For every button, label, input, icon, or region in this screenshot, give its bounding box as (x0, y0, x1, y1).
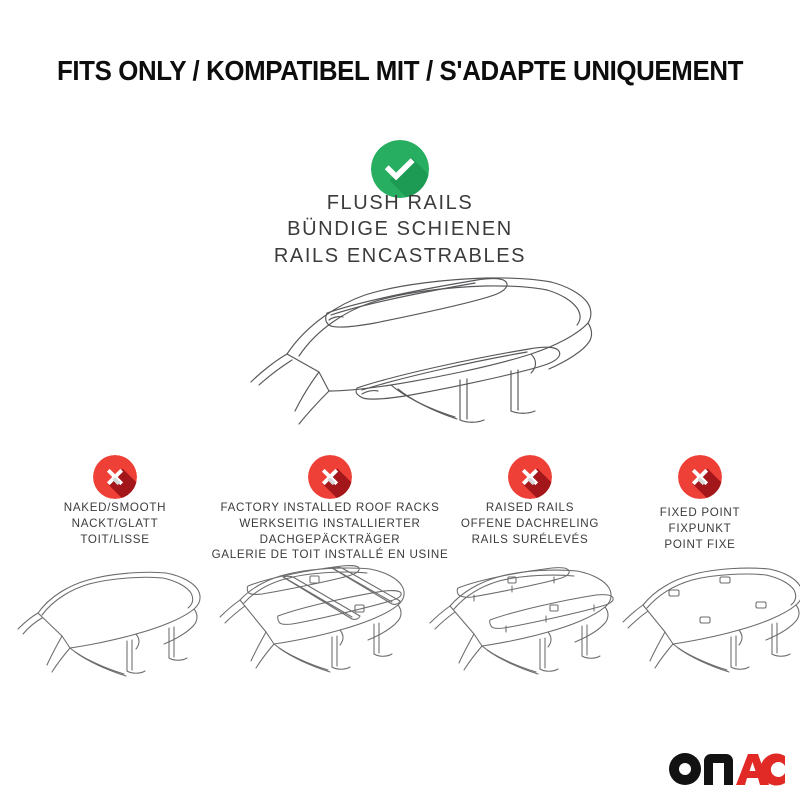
incompatible-4-line-2: FIXPUNKT (615, 521, 785, 537)
incompatible-3-line-1: RAISED RAILS (425, 500, 635, 516)
car-roof-naked-smooth-illustration (12, 558, 212, 688)
cross-circle-icon (508, 455, 552, 499)
infographic-canvas: FITS ONLY / KOMPATIBEL MIT / S'ADAPTE UN… (0, 0, 800, 800)
incompatible-label-block-1: NAKED/SMOOTH NACKT/GLATT TOIT/LISSE (15, 500, 215, 547)
incompatible-3-line-3: RAILS SURÉLEVÉS (425, 532, 635, 548)
compatible-label-line-3: RAILS ENCASTRABLES (0, 243, 800, 269)
incompatible-4-line-3: POINT FIXE (615, 537, 785, 553)
car-roof-raised-rails-illustration (422, 558, 622, 688)
incompatible-4-line-1: FIXED POINT (615, 505, 785, 521)
compatible-label-line-2: BÜNDIGE SCHIENEN (0, 216, 800, 242)
page-title: FITS ONLY / KOMPATIBEL MIT / S'ADAPTE UN… (24, 55, 776, 87)
cross-circle-icon (93, 455, 137, 499)
compatible-label-line-1: FLUSH RAILS (0, 190, 800, 216)
car-roof-flush-rails-illustration (215, 268, 600, 428)
omac-logo (668, 752, 786, 786)
incompatible-1-line-2: NACKT/GLATT (15, 516, 215, 532)
car-roof-factory-racks-illustration (212, 558, 422, 688)
incompatible-3-line-2: OFFENE DACHRELING (425, 516, 635, 532)
cross-circle-icon (308, 455, 352, 499)
compatible-label-block: FLUSH RAILS BÜNDIGE SCHIENEN RAILS ENCAS… (0, 190, 800, 269)
incompatible-label-block-4: FIXED POINT FIXPUNKT POINT FIXE (615, 505, 785, 552)
incompatible-1-line-1: NAKED/SMOOTH (15, 500, 215, 516)
cross-circle-icon (678, 455, 722, 499)
car-roof-fixed-point-illustration (617, 558, 800, 688)
incompatible-label-block-3: RAISED RAILS OFFENE DACHRELING RAILS SUR… (425, 500, 635, 547)
incompatible-1-line-3: TOIT/LISSE (15, 532, 215, 548)
